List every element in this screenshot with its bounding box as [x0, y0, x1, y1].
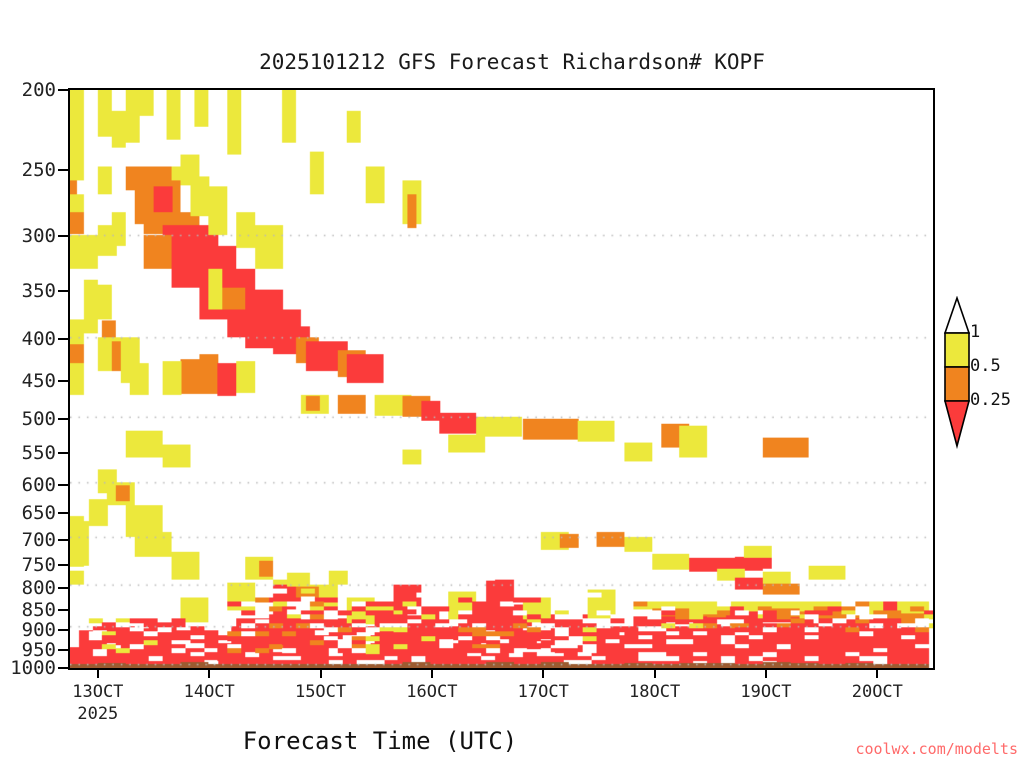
- colorbar[interactable]: 1 0.5 0.25: [938, 296, 1024, 482]
- x-tick-label: 19OCT: [740, 682, 791, 702]
- y-tick-label: 450: [0, 372, 56, 391]
- y-tick-mark: [58, 629, 68, 631]
- y-tick-label: 600: [0, 476, 56, 495]
- y-tick-label: 200: [0, 81, 56, 100]
- y-tick-mark: [58, 418, 68, 420]
- x-tick-mark: [542, 670, 544, 678]
- x-tick-mark: [654, 670, 656, 678]
- chart-page: 2025101212 GFS Forecast Richardson# KOPF…: [0, 0, 1024, 768]
- y-tick-mark: [58, 235, 68, 237]
- watermark: coolwx.com/modelts: [855, 740, 1018, 758]
- colorbar-label-025: 0.25: [970, 392, 1011, 409]
- y-tick-label: 300: [0, 227, 56, 246]
- y-tick-label: 400: [0, 330, 56, 349]
- y-tick-mark: [58, 512, 68, 514]
- x-tick-label: 18OCT: [629, 682, 680, 702]
- y-tick-mark: [58, 587, 68, 589]
- y-tick-mark: [58, 169, 68, 171]
- y-tick-label: 850: [0, 601, 56, 620]
- x-tick-label: 13OCT: [72, 682, 123, 702]
- y-tick-mark: [58, 290, 68, 292]
- x-tick-mark: [208, 670, 210, 678]
- y-tick-label: 550: [0, 444, 56, 463]
- x-tick-mark: [876, 670, 878, 678]
- x-tick-mark: [431, 670, 433, 678]
- y-tick-label: 350: [0, 282, 56, 301]
- y-tick-mark: [58, 484, 68, 486]
- y-tick-mark: [58, 452, 68, 454]
- y-tick-label: 900: [0, 621, 56, 640]
- x-tick-label: 15OCT: [295, 682, 346, 702]
- y-tick-label: 1000: [0, 659, 56, 678]
- x-tick-mark: [765, 670, 767, 678]
- colorbar-label-1: 1: [970, 324, 980, 341]
- y-tick-mark: [58, 89, 68, 91]
- y-tick-mark: [58, 649, 68, 651]
- page-title: 2025101212 GFS Forecast Richardson# KOPF: [0, 50, 1024, 74]
- x-tick-label: 20OCT: [852, 682, 903, 702]
- plot-area[interactable]: [68, 88, 935, 670]
- x-tick-mark: [97, 670, 99, 678]
- y-tick-mark: [58, 539, 68, 541]
- year-label: 2025: [77, 704, 118, 724]
- y-tick-mark: [58, 380, 68, 382]
- y-tick-mark: [58, 609, 68, 611]
- y-tick-mark: [58, 667, 68, 669]
- x-axis-title: Forecast Time (UTC): [0, 727, 760, 755]
- x-tick-label: 17OCT: [518, 682, 569, 702]
- y-tick-label: 750: [0, 556, 56, 575]
- y-tick-label: 700: [0, 531, 56, 550]
- y-tick-mark: [58, 564, 68, 566]
- x-tick-mark: [320, 670, 322, 678]
- heatmap-canvas: [70, 90, 933, 668]
- y-tick-mark: [58, 338, 68, 340]
- y-tick-label: 250: [0, 161, 56, 180]
- x-tick-label: 14OCT: [184, 682, 235, 702]
- x-tick-label: 16OCT: [406, 682, 457, 702]
- colorbar-swatches: [938, 296, 1024, 482]
- colorbar-label-05: 0.5: [970, 358, 1001, 375]
- y-tick-label: 800: [0, 579, 56, 598]
- y-tick-label: 500: [0, 410, 56, 429]
- y-tick-label: 650: [0, 504, 56, 523]
